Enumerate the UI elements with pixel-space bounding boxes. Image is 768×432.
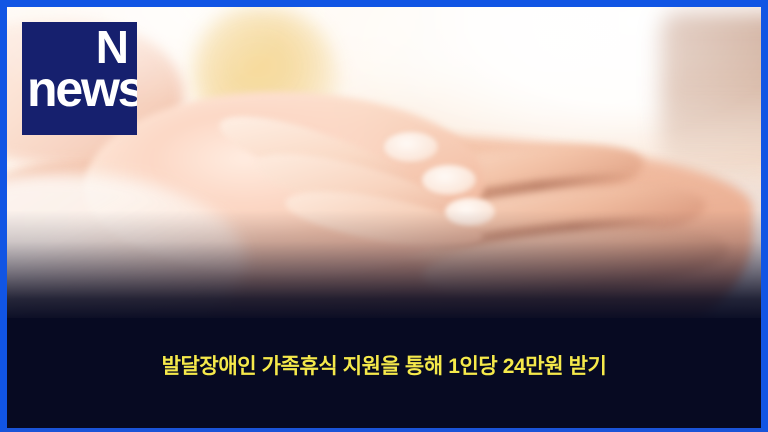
caption-headline: 발달장애인 가족휴식 지원을 통해 1인당 24만원 받기	[162, 354, 607, 379]
news-thumbnail-card: 발달장애인 가족휴식 지원을 통해 1인당 24만원 받기 N news	[0, 0, 768, 432]
baby-fingernail-2	[422, 165, 476, 195]
n-news-logo: N news	[22, 22, 137, 135]
logo-word-news: news	[27, 64, 137, 114]
photo-taupe-edge-blob	[660, 13, 768, 185]
caption-band: 발달장애인 가족휴식 지원을 통해 1인당 24만원 받기	[0, 318, 768, 432]
frame-bottom-inner	[0, 420, 768, 432]
baby-fingernail-1	[384, 132, 438, 162]
